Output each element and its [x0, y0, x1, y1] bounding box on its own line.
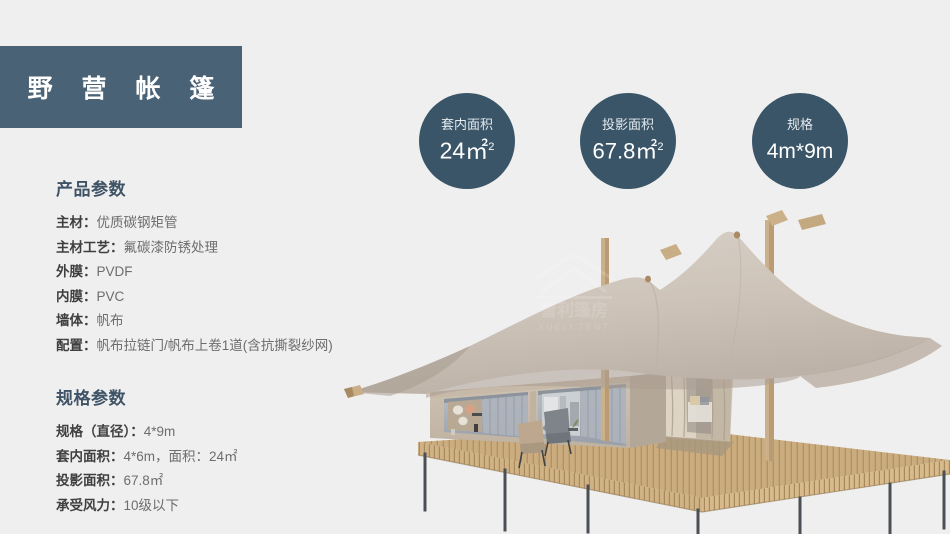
spec-label: 承受风力：	[56, 498, 124, 513]
spec-label: 内膜：	[56, 289, 97, 304]
spec-value: 优质碳钢矩管	[97, 215, 178, 230]
spec-value: 4*9m	[144, 424, 176, 439]
badge-number: 24	[440, 138, 466, 164]
badge-label: 套内面积	[441, 117, 493, 133]
spec-label: 主材工艺：	[56, 240, 124, 255]
page-title: 野 营 帐 篷	[17, 69, 226, 105]
spec-label: 配置：	[56, 338, 97, 353]
badge-superscript: 2	[657, 141, 663, 153]
badge-number: 4m*9m	[767, 140, 834, 163]
spec-value: 帆布拉链门/帆布上卷1道(含抗撕裂纱网)	[97, 338, 333, 353]
watermark-cn-text: 雪利篷房	[540, 300, 608, 320]
spec-value: 帆布	[97, 313, 124, 328]
badge-value: 4m*9m	[767, 134, 834, 165]
spec-value: 10级以下	[124, 498, 180, 513]
watermark-en-text: XUELI TENT	[538, 322, 610, 332]
badge-superscript: 2	[488, 141, 494, 153]
badge-unit: ㎡	[465, 138, 488, 164]
spec-label: 墙体：	[56, 313, 97, 328]
spec-label: 套内面积：	[56, 449, 124, 464]
badge-label: 规格	[787, 117, 813, 133]
badge-projected-area[interactable]: 投影面积 67.8㎡2	[580, 93, 676, 189]
tent-illustration: 雪利篷房 XUELI TENT	[330, 180, 950, 534]
badge-value: 24㎡2	[440, 134, 495, 165]
badge-label: 投影面积	[602, 117, 654, 133]
spec-label: 主材：	[56, 215, 97, 230]
badge-number: 67.8	[593, 139, 636, 164]
spec-value: 4*6m，面积：24㎡	[124, 449, 238, 464]
spec-value: PVDF	[97, 264, 133, 279]
spec-value: 氟碳漆防锈处理	[124, 240, 219, 255]
badge-unit: ㎡	[635, 139, 657, 164]
badge-value: 67.8㎡2	[593, 134, 664, 164]
spec-label: 外膜：	[56, 264, 97, 279]
tent-canopy	[344, 210, 942, 398]
spec-label: 投影面积：	[56, 473, 124, 488]
page-title-banner: 野 营 帐 篷	[0, 46, 242, 128]
badge-dimensions[interactable]: 规格 4m*9m	[752, 93, 848, 189]
badge-interior-area[interactable]: 套内面积 24㎡2	[419, 93, 515, 189]
spec-label: 规格（直径）：	[56, 424, 144, 439]
spec-value: 67.8㎡	[124, 473, 164, 488]
spec-value: PVC	[97, 289, 125, 304]
